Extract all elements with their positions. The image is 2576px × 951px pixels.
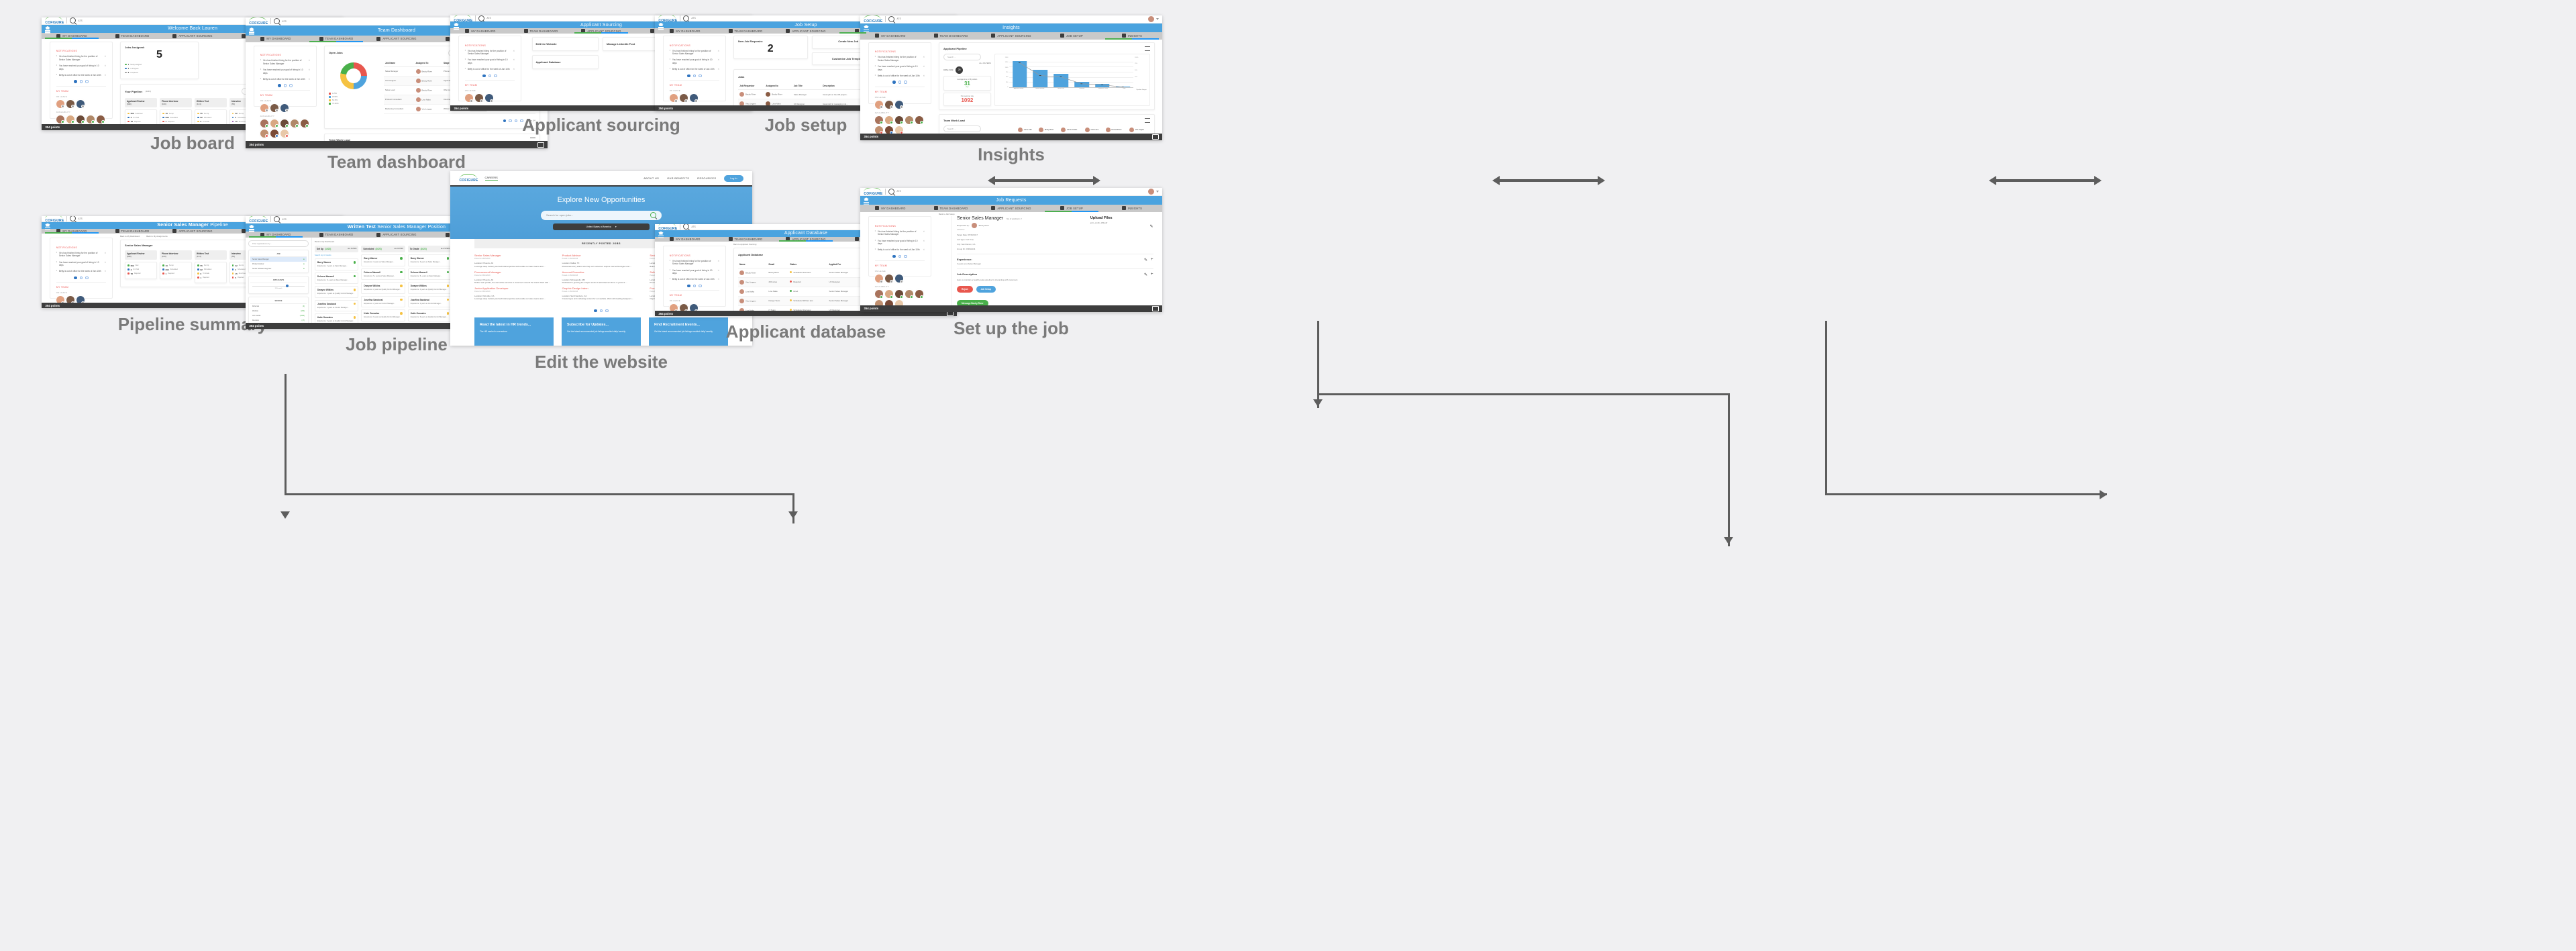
tab-my-dashboard[interactable]: MY DASHBOARD xyxy=(860,205,921,211)
magnifier-icon xyxy=(274,216,280,222)
pipeline-stage-column[interactable]: Phone Interview(310) 10Set up 299Schedul… xyxy=(160,250,192,283)
cofigure-logo: COFIGURE xyxy=(460,174,478,183)
stage-stat: 3On Hold xyxy=(127,268,154,271)
website-nav[interactable]: COFIGURE CAREERS ABOUT US OUR BENEFITS R… xyxy=(450,171,752,187)
donut-chart xyxy=(340,62,367,89)
filter-group: SOURCE Referrals(4) Website(200) Job boa… xyxy=(248,297,309,325)
shield-icon xyxy=(56,34,60,38)
list-view-icon[interactable] xyxy=(1145,46,1150,51)
assigned-breakdown-item: 4In Progress xyxy=(125,67,194,70)
kanban-column-header: To Grade(1022) ALL FILTERS xyxy=(408,246,452,252)
stage-header: Written Test(144) xyxy=(195,98,227,107)
page-title: Applicant Sourcing xyxy=(580,23,622,28)
edit-icon[interactable]: ✎ xyxy=(1144,272,1147,277)
carousel-dots[interactable] xyxy=(260,84,311,87)
status-badge xyxy=(790,281,792,283)
main-nav[interactable]: MY DASHBOARD TEAM DASHBOARD APPLICANT SO… xyxy=(860,205,1162,211)
stage-stat: 3On Hold xyxy=(127,116,154,119)
nav-resources[interactable]: RESOURCES xyxy=(697,177,716,180)
points-label: 354 points xyxy=(45,126,60,129)
tab-my-dashboard[interactable]: MY DASHBOARD xyxy=(450,28,511,34)
job-listing-title: Procurement Manager xyxy=(474,270,553,274)
nav-about-us[interactable]: ABOUT US xyxy=(643,177,659,180)
close-icon[interactable]: ✕ xyxy=(923,65,925,71)
edit-icon[interactable]: ✎ xyxy=(1090,224,1153,229)
tab-applicant-sourcing[interactable]: APPLICANT SOURCING xyxy=(162,229,223,234)
filter-option[interactable]: Product Advisor⊕ xyxy=(250,262,307,266)
reject-button[interactable]: Reject xyxy=(957,286,973,293)
close-icon[interactable]: ✕ xyxy=(717,58,719,64)
kanban-column[interactable]: To Grade(1022) ALL FILTERS Barry Warner … xyxy=(408,246,452,329)
filter-heading: JOB xyxy=(250,252,307,257)
open-jobs-label: Open Jobs xyxy=(329,51,343,54)
stage-stat: 299Scheduled xyxy=(162,116,189,119)
home-menu-icon[interactable] xyxy=(864,25,869,30)
list-view-icon[interactable] xyxy=(1145,118,1150,123)
main-nav[interactable]: MY DASHBOARD TEAM DASHBOARD APPLICANT SO… xyxy=(860,32,1162,39)
login-button[interactable]: Log-In xyxy=(724,175,743,182)
notification-item[interactable]: • Viru has finished hiring for the posit… xyxy=(56,55,107,61)
status-badge xyxy=(354,316,356,319)
avatar xyxy=(739,299,744,303)
close-icon[interactable]: ✕ xyxy=(717,269,719,275)
tab-my-dashboard[interactable]: MY DASHBOARD xyxy=(246,232,306,238)
status-badge xyxy=(447,285,450,287)
active-jobs-label: Active Jobs: xyxy=(943,68,954,71)
avatar xyxy=(416,88,421,93)
stage-stat: 55Set Up xyxy=(197,264,224,267)
close-icon[interactable]: ✕ xyxy=(104,261,106,267)
tab-job-setup[interactable]: JOB SETUP xyxy=(1041,32,1102,39)
column-header: Applied For xyxy=(828,261,862,268)
tab-applicant-sourcing[interactable]: APPLICANT SOURCING xyxy=(981,205,1041,211)
job-search-input[interactable]: Search for open jobs... xyxy=(541,211,662,220)
home-menu-icon[interactable] xyxy=(249,28,254,33)
upload-files-label: Upload Files xyxy=(1090,216,1153,220)
y2-tick: 25% xyxy=(1135,77,1147,78)
candidate-card[interactable]: Barry Warner Experience: 3 years as Sale… xyxy=(361,254,405,266)
job-listing[interactable]: Product AdvisorPosted on 05/04/2018 Loca… xyxy=(562,254,641,267)
people-icon xyxy=(524,29,528,33)
stage-header: Applicant Review(690) xyxy=(125,250,157,260)
people-icon xyxy=(115,229,119,233)
status-badge xyxy=(790,271,792,273)
stage-stat: 1Rejected xyxy=(197,277,224,279)
carousel-dots[interactable] xyxy=(670,74,720,78)
job-setup-button[interactable]: Job Setup xyxy=(976,286,996,293)
close-icon[interactable]: ✕ xyxy=(923,248,925,252)
nav-careers[interactable]: CAREERS xyxy=(485,176,498,181)
avatar[interactable] xyxy=(1148,189,1154,195)
close-icon[interactable]: ✕ xyxy=(104,74,106,77)
filter-option[interactable]: Job boards(1002) xyxy=(250,313,307,318)
search-top-results[interactable]: Search top 10 results xyxy=(315,254,358,256)
carousel-dots[interactable] xyxy=(875,255,925,258)
tab-applicant-sourcing[interactable]: APPLICANT SOURCING xyxy=(981,32,1041,39)
sourcing-tile[interactable]: Applicant Database xyxy=(532,55,599,69)
promo-card[interactable]: Read the latest in HR trends...The HR ma… xyxy=(474,317,554,346)
close-icon[interactable]: ✕ xyxy=(513,50,515,56)
shield-icon xyxy=(670,29,674,33)
filter-option[interactable]: Senior Software Engineer⊕ xyxy=(250,266,307,271)
home-menu-icon[interactable] xyxy=(45,26,50,32)
column-header: Job Requestor xyxy=(738,83,764,90)
availability-label: AVAILABILITY xyxy=(56,111,107,113)
tab-team-dashboard[interactable]: TEAM DASHBOARD xyxy=(511,28,571,34)
column-header: Description xyxy=(821,83,860,90)
candidate-card[interactable]: Delores Maxwell Experience: 5+ years as … xyxy=(361,268,405,281)
candidate-card[interactable]: Josefina Sandoval Experience: 2 years as… xyxy=(408,296,452,308)
description-value: Help us maintain a healthy sales pipelin… xyxy=(957,279,1144,281)
status-badge xyxy=(354,261,356,264)
filter-option[interactable]: Website(200) xyxy=(250,309,307,313)
back-to-assignments-link[interactable]: Back to My Assignments xyxy=(146,235,168,238)
avatar xyxy=(739,289,744,294)
all-filters-button[interactable]: ALL FILTERS xyxy=(395,248,403,250)
avatar[interactable] xyxy=(972,223,977,228)
close-icon[interactable]: ✕ xyxy=(923,230,925,236)
jobs-label: Jobs xyxy=(738,75,744,79)
home-menu-icon[interactable] xyxy=(249,225,254,230)
applicant-pipeline-chart: 0250500750100012501500 25%50%75%100% App… xyxy=(994,54,1150,106)
back-to-dashboard-link[interactable]: Back to My Dashboard xyxy=(120,235,140,238)
sourcing-tile[interactable]: Edit the Website xyxy=(532,37,599,51)
tab-my-dashboard[interactable]: MY DASHBOARD xyxy=(246,36,306,43)
avatar xyxy=(1061,128,1066,132)
status-badge xyxy=(447,312,450,315)
job-title: Senior Sales Manager xyxy=(957,216,1003,221)
people-icon xyxy=(934,34,938,38)
avatar xyxy=(416,97,421,102)
chat-icon[interactable] xyxy=(537,142,544,148)
job-listing-title: Graphic Design Intern xyxy=(562,287,641,290)
stage-header: Phone Interview(310) xyxy=(160,98,192,107)
avatar[interactable] xyxy=(66,100,74,108)
status-badge xyxy=(354,275,356,278)
job-listing[interactable]: Junior Application DeveloperPosted on 05… xyxy=(474,287,553,300)
avatar[interactable] xyxy=(1148,16,1154,22)
close-icon[interactable]: ✕ xyxy=(717,278,719,281)
close-icon[interactable]: ✕ xyxy=(923,74,925,78)
filter-sidebar: Filter Applications by... JOB Senior Sal… xyxy=(246,238,312,322)
avatar[interactable] xyxy=(87,115,95,123)
back-link[interactable]: Back to Job Setup xyxy=(939,213,954,215)
shield-icon xyxy=(465,29,469,33)
all-filters-button[interactable]: ALL FILTERS xyxy=(943,62,991,64)
stage-stat: 82Scheduled xyxy=(197,268,224,271)
y-tick: 250 xyxy=(998,82,1009,83)
chart-xlabel: Pipeline Stages xyxy=(998,89,1147,91)
carousel-dots[interactable] xyxy=(465,74,515,78)
tab-applicant-sourcing[interactable]: APPLICANT SOURCING xyxy=(366,36,427,43)
tab-team-dashboard[interactable]: TEAM DASHBOARD xyxy=(102,229,162,234)
close-icon[interactable]: ✕ xyxy=(104,270,106,273)
column-header: Status xyxy=(788,261,827,268)
tab-team-dashboard[interactable]: TEAM DASHBOARD xyxy=(102,33,162,39)
tab-applicant-sourcing[interactable]: APPLICANT SOURCING xyxy=(366,232,427,238)
close-icon[interactable]: ✕ xyxy=(717,260,719,266)
filter-option[interactable]: Senior Sales Manager⊕ xyxy=(250,257,307,262)
caption-set-up-job: Set up the job xyxy=(860,318,1162,339)
clipboard-icon xyxy=(172,34,176,38)
tab-job-setup[interactable]: JOB SETUP xyxy=(1041,205,1102,211)
close-icon[interactable]: ✕ xyxy=(308,59,310,65)
shield-icon xyxy=(56,229,60,233)
match-slider[interactable]: 70% match xyxy=(250,283,307,292)
workload-search-input[interactable]: Search ... xyxy=(943,126,981,132)
candidate-card[interactable]: Delores Maxwell Experience: 5+ years as … xyxy=(315,272,358,285)
stage-stat: 78Rejected xyxy=(127,120,154,123)
column-header: Email xyxy=(767,261,788,268)
status-badge xyxy=(790,299,792,301)
filter-option[interactable]: Referrals(4) xyxy=(250,304,307,309)
pipeline-total: (1213) xyxy=(146,90,151,93)
home-menu-icon[interactable] xyxy=(658,23,664,28)
tab-insights[interactable]: INSIGHTS xyxy=(1102,205,1162,211)
candidate-card[interactable]: Dwayne Wilkins Experience: 2 years as Qu… xyxy=(361,282,405,294)
column-header: Job Name xyxy=(384,60,415,67)
y2-tick: 100% xyxy=(1135,57,1147,58)
avatar xyxy=(416,69,421,74)
workload-label: Team Work Load xyxy=(943,119,965,122)
chevron-down-icon[interactable] xyxy=(1156,191,1159,193)
close-icon[interactable]: ✕ xyxy=(923,240,925,246)
people-icon xyxy=(319,233,323,237)
notifications-panel: NOTIFICATIONS •Viru has finished hiring … xyxy=(50,238,113,299)
job-listing[interactable]: Graphic Design InternPosted on 05/03/201… xyxy=(562,287,641,300)
avatar xyxy=(1106,128,1111,132)
chat-icon[interactable] xyxy=(1152,134,1159,140)
notification-item[interactable]: • You have reached your goal of hiring i… xyxy=(56,64,107,70)
on-leave-avatars xyxy=(56,100,107,108)
y-tick: 1000 xyxy=(998,67,1009,68)
clipboard-icon xyxy=(376,37,380,41)
stage-stat: 10Set up xyxy=(162,264,189,267)
home-menu-icon[interactable] xyxy=(45,223,50,229)
candidate-card[interactable]: Dwayne Wilkins Experience: 2 years as Qu… xyxy=(408,282,452,294)
job-type: Job Type: Full Time xyxy=(957,238,1090,241)
megaphone-icon xyxy=(855,237,859,241)
chat-icon[interactable] xyxy=(1152,306,1159,311)
tab-my-dashboard[interactable]: MY DASHBOARD xyxy=(655,28,715,34)
close-icon[interactable]: ✕ xyxy=(104,64,106,70)
caption-team-dashboard: Team dashboard xyxy=(246,152,548,172)
tab-my-dashboard[interactable]: MY DASHBOARD xyxy=(655,237,715,242)
tab-my-dashboard[interactable]: MY DASHBOARD xyxy=(860,32,921,39)
divider xyxy=(66,17,67,23)
page-title: Insights xyxy=(1002,26,1020,30)
filter-group: APPLICANTS 70% match xyxy=(248,276,309,294)
megaphone-icon xyxy=(650,29,654,33)
kanban-column-header: Scheduled(1022) ALL FILTERS xyxy=(361,246,405,252)
home-menu-icon[interactable] xyxy=(454,23,459,28)
status-badge xyxy=(400,285,403,287)
stage-stat: 609Submitted xyxy=(127,112,154,115)
tab-team-dashboard[interactable]: TEAM DASHBOARD xyxy=(306,36,366,43)
close-icon[interactable]: ✕ xyxy=(513,58,515,64)
bulb-icon xyxy=(1122,206,1126,210)
tab-applicant-sourcing[interactable]: APPLICANT SOURCING xyxy=(571,28,631,34)
tab-my-dashboard[interactable]: MY DASHBOARD xyxy=(42,229,102,234)
pipeline-stage-column[interactable]: Applicant Review(690) 609New 3On Hold 78… xyxy=(125,250,157,283)
tab-team-dashboard[interactable]: TEAM DASHBOARD xyxy=(306,232,366,238)
candidate-card[interactable]: Josefina Sandoval Experience: 2 years as… xyxy=(361,296,405,308)
tab-team-dashboard[interactable]: TEAM DASHBOARD xyxy=(921,32,981,39)
avatar xyxy=(1039,128,1043,132)
home-menu-icon[interactable] xyxy=(864,197,869,203)
avatar[interactable] xyxy=(76,115,85,123)
magnifier-icon xyxy=(70,216,76,221)
avatar[interactable] xyxy=(56,100,64,108)
job-listing[interactable]: Senior Sales ManagerPosted on 05/05/2018… xyxy=(474,254,553,267)
page-title: Welcome Back Lauren xyxy=(168,26,217,31)
country-select[interactable]: United States of America▾ xyxy=(553,223,650,230)
avatar[interactable] xyxy=(76,100,85,108)
tab-team-dashboard[interactable]: TEAM DASHBOARD xyxy=(715,237,776,242)
tab-my-dashboard[interactable]: MY DASHBOARD xyxy=(42,33,102,39)
avg-time-metric: Average time to fill position 31 days xyxy=(943,76,991,91)
status-badge xyxy=(400,312,403,315)
back-link[interactable]: Back to Applicant Sourcing xyxy=(733,243,756,246)
close-icon[interactable]: ✕ xyxy=(104,55,106,61)
active-jobs-value: 25 xyxy=(956,66,963,74)
nav-our-benefits[interactable]: OUR BENEFITS xyxy=(667,177,689,180)
job-listing-title: Senior Sales Manager xyxy=(474,254,553,257)
close-icon[interactable]: ✕ xyxy=(104,252,106,258)
shield-icon xyxy=(260,37,264,41)
tab-applicant-sourcing[interactable]: APPLICANT SOURCING xyxy=(162,33,223,39)
status-badge xyxy=(400,299,403,301)
megaphone-icon xyxy=(446,37,450,41)
close-icon[interactable]: ✕ xyxy=(308,68,310,74)
tab-team-dashboard[interactable]: TEAM DASHBOARD xyxy=(715,28,776,34)
all-filters-button[interactable]: ALL FILTERS xyxy=(441,248,450,250)
avatar xyxy=(416,107,421,111)
avatar xyxy=(416,79,421,83)
column-header: Assigned To xyxy=(415,60,442,67)
target-date: Target Date: 05/15/2017 xyxy=(957,234,1090,236)
stage-stat: 1Rejected xyxy=(162,120,189,123)
notifications-panel: NOTIFICATIONS •Viru has finished hiring … xyxy=(254,46,317,107)
x-tick: Offer xyxy=(1114,88,1135,89)
description-label: Job Description xyxy=(957,272,1144,276)
y-tick: 1250 xyxy=(998,62,1009,63)
tab-applicant-sourcing[interactable]: APPLICANT SOURCING xyxy=(776,28,836,34)
page-title: Job Requests xyxy=(996,198,1026,203)
candidate-card[interactable]: Dwayne Wilkins Experience: 2 years as Qu… xyxy=(315,286,358,298)
notifications-panel: NOTIFICATIONS •Viru has finished hiring … xyxy=(663,246,727,307)
pipeline-label: Your Pipeline: xyxy=(125,90,143,93)
close-icon[interactable]: ✕ xyxy=(308,78,310,81)
candidate-card[interactable]: Barry Warner Experience: 3 years as Sale… xyxy=(315,258,358,270)
close-icon[interactable]: ✕ xyxy=(717,68,719,71)
close-icon[interactable]: ✕ xyxy=(513,68,515,71)
hero-title: Explore New Opportunities xyxy=(558,196,646,204)
carousel-dots[interactable] xyxy=(875,81,925,84)
candidate-card[interactable]: Josefina Sandoval Experience: 2 years as… xyxy=(315,300,358,312)
candidate-card[interactable]: Katie Gonzales Experience: 6 years as Qu… xyxy=(361,309,405,321)
search-input[interactable]: Search ... xyxy=(943,54,981,60)
page-title: Senior Sales Manager Pipeline xyxy=(157,223,227,228)
kanban-column[interactable]: Set Up(1022) ALL FILTERS Search top 10 r… xyxy=(315,246,358,329)
page-title: Team Dashboard xyxy=(378,28,415,33)
promo-card[interactable]: Subscribe for Updates...Get the latest r… xyxy=(562,317,641,346)
job-listing[interactable]: Procurement ManagerPosted on 05/04/2018 … xyxy=(474,270,553,284)
status-badge xyxy=(400,271,403,274)
pipeline-stage-column[interactable]: Written Test(144) 55Set Up 82Scheduled 6… xyxy=(195,250,227,283)
tab-insights[interactable]: INSIGHTS xyxy=(1102,32,1162,39)
screen-job-requests[interactable]: COFIGURE ATS Job Requests MY DASHBOARD T… xyxy=(860,188,1162,312)
all-filters-button[interactable]: ALL FILTERS xyxy=(348,248,356,250)
notifications-panel: NOTIFICATIONS • Viru has finished hiring… xyxy=(50,42,113,119)
status-badge xyxy=(447,271,450,274)
clipboard-icon xyxy=(172,229,176,233)
add-icon[interactable]: + xyxy=(1151,258,1153,262)
megaphone-icon xyxy=(1060,34,1064,38)
shield-icon xyxy=(875,34,879,38)
page-title: Written Test Senior Sales Manager Positi… xyxy=(348,225,446,230)
add-icon[interactable]: + xyxy=(1151,272,1153,277)
avatar[interactable] xyxy=(97,115,105,123)
avatar xyxy=(1018,128,1023,132)
legend-item: 50-75% xyxy=(329,99,378,101)
tab-team-dashboard[interactable]: TEAM DASHBOARD xyxy=(921,205,981,211)
kanban-column-header: Set Up(1022) ALL FILTERS xyxy=(315,246,358,252)
stage-stat: 82Scheduled xyxy=(197,116,224,119)
carousel-dots[interactable] xyxy=(56,277,107,280)
notification-item[interactable]: • Betty is out of office for the week of… xyxy=(56,74,107,77)
job-listing[interactable]: Account ExecutivePosted on 05/04/2018 Lo… xyxy=(562,270,641,284)
avatar[interactable] xyxy=(66,115,74,123)
filter-applications-input[interactable]: Filter Applications by... xyxy=(248,240,309,247)
clipboard-icon xyxy=(991,34,995,38)
notifications-heading: NOTIFICATIONS xyxy=(56,50,107,52)
clipboard-icon xyxy=(991,206,995,210)
candidate-card[interactable]: Katie Gonzales Experience: 6 years as Qu… xyxy=(408,309,452,321)
chevron-down-icon[interactable] xyxy=(1156,18,1159,20)
avatar xyxy=(739,270,744,275)
magnifier-icon xyxy=(888,16,894,22)
close-icon[interactable]: ✕ xyxy=(923,56,925,62)
legend-item: 1-25% xyxy=(329,93,378,95)
magnifier-icon xyxy=(70,17,76,23)
new-job-requests-card: New Job Requests: 2 xyxy=(733,36,808,59)
screen-insights[interactable]: COFIGURE ATS Insights MY DASHBOARD TEAM … xyxy=(860,15,1162,140)
shield-icon xyxy=(875,206,879,210)
avatar xyxy=(1129,128,1134,132)
candidate-card[interactable]: Barry Warner Experience: 3 years as Sale… xyxy=(408,254,452,266)
y-tick: 750 xyxy=(998,72,1009,73)
avatar[interactable] xyxy=(56,115,64,123)
conversion-line xyxy=(1009,57,1133,88)
carousel-dots[interactable] xyxy=(56,80,107,83)
candidate-card[interactable]: Delores Maxwell Experience: 5+ years as … xyxy=(408,268,452,281)
carousel-dots[interactable] xyxy=(670,285,720,288)
jobs-assigned-card: Jobs Assigned: 5 1Newly assigned 4In Pro… xyxy=(120,42,199,79)
positions-count: No of positions: 2 xyxy=(1007,217,1021,220)
clipboard-icon xyxy=(786,29,790,33)
edit-icon[interactable]: ✎ xyxy=(1144,258,1147,262)
stage-stat: 299Scheduled xyxy=(162,268,189,271)
home-menu-icon[interactable] xyxy=(658,232,664,237)
kanban-column[interactable]: Scheduled(1022) ALL FILTERS Barry Warner… xyxy=(361,246,405,329)
tab-applicant-sourcing[interactable]: APPLICANT SOURCING xyxy=(776,237,836,242)
y-tick: 0 xyxy=(998,87,1009,88)
panel-label: Applicant Database xyxy=(738,253,763,256)
close-icon[interactable]: ✕ xyxy=(717,50,719,56)
caption-insights: Insights xyxy=(860,144,1162,165)
stage-stat: 1Rejected xyxy=(162,272,189,275)
